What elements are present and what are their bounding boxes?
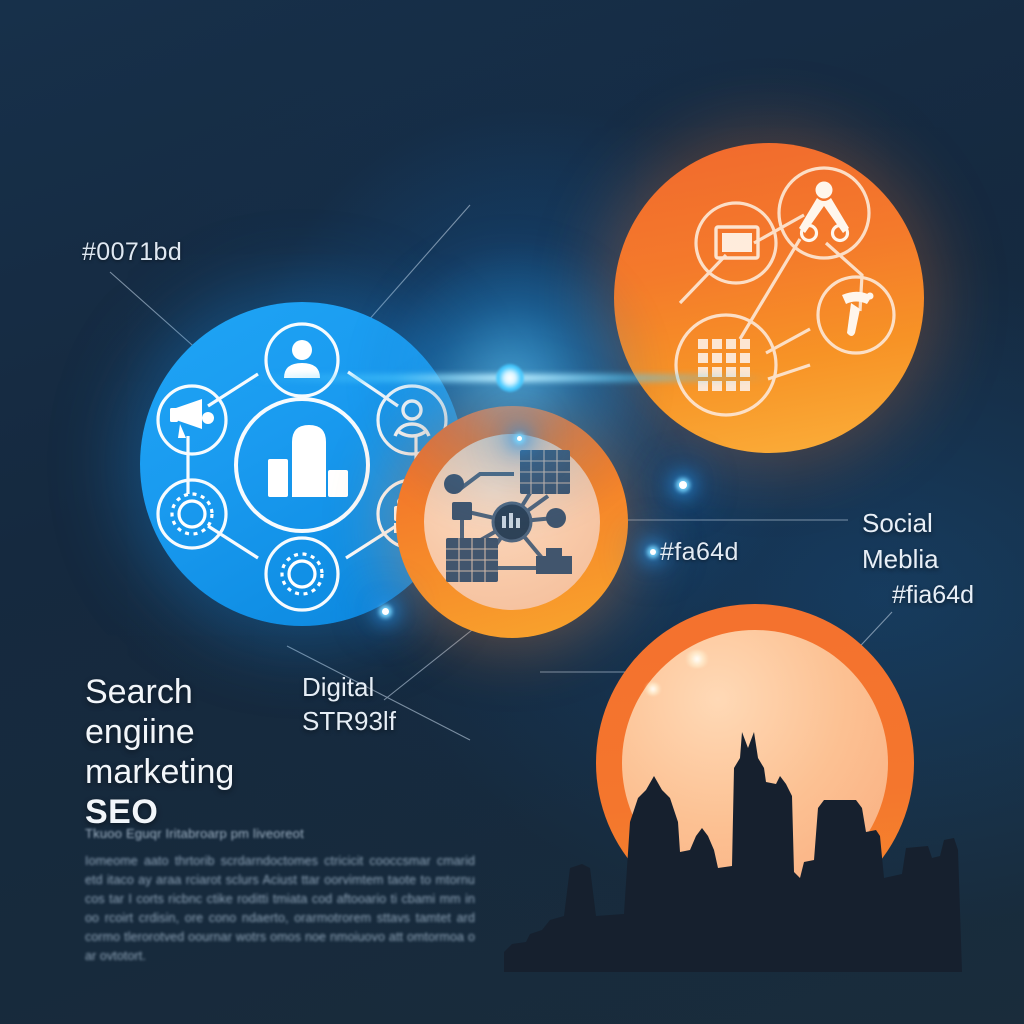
hex-label-blue: #0071bd	[82, 238, 182, 267]
city-skyline-silhouette	[504, 672, 962, 972]
social-media-label: Social Meblia #fia64d	[862, 505, 1024, 613]
gear-icon	[282, 554, 322, 594]
title-line-3: marketing	[85, 752, 385, 792]
screen-icon	[716, 227, 758, 258]
right-label-line-1: Social	[862, 505, 1024, 541]
blurb-heading: Tkuoo Eguqr Iritabroarp pm liveoreot	[85, 826, 485, 841]
scissors-person-icon	[799, 182, 849, 241]
sun-spark-icon	[684, 650, 710, 668]
tool-icon	[842, 292, 874, 336]
flare-core	[496, 364, 524, 392]
middle-label-line-1: Digital	[302, 670, 512, 704]
infographic-canvas: #0071bd #fa64d Search engiine marketing …	[0, 0, 1024, 1024]
bar-chart-icon	[268, 425, 348, 497]
glow-dot	[382, 608, 389, 615]
right-label-line-2: Meblia	[862, 541, 1024, 577]
middle-label-line-2: STR93lf	[302, 704, 512, 738]
hex-label-middle: #fa64d	[660, 538, 739, 567]
orange-circle-social-media	[614, 143, 924, 453]
blurb-body: Iomeome aato thrtorib scrdarndoctomes ct…	[85, 852, 475, 966]
gear-icon	[172, 494, 212, 534]
glow-dot	[650, 549, 656, 555]
glow-dot	[679, 481, 687, 489]
hex-label-right: #fia64d	[862, 577, 1024, 613]
user-profile-icon	[284, 340, 320, 378]
grid-icon	[698, 339, 750, 391]
middle-circle-label: Digital STR93lf	[302, 670, 512, 738]
glow-dot	[517, 436, 522, 441]
orange-circle-node-graph	[614, 143, 924, 453]
